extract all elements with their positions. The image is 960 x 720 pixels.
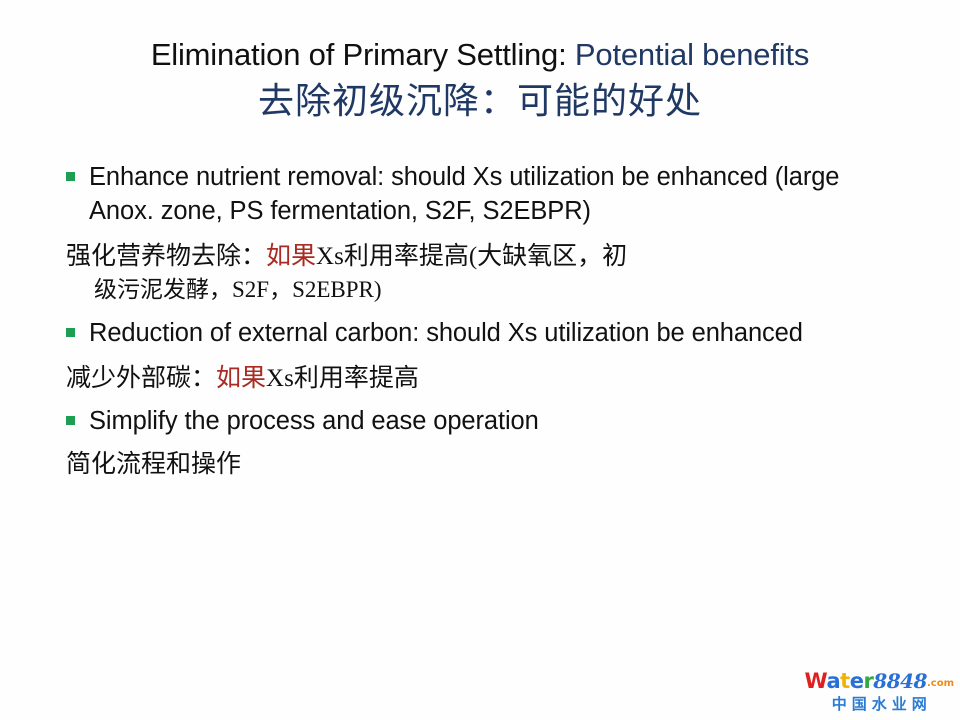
- watermark-chinese: 中国水业网: [805, 697, 954, 712]
- slide-title-block: Elimination of Primary Settling: Potenti…: [0, 36, 960, 124]
- chinese-translation-1: 强化营养物去除：如果Xs利用率提高(大缺氧区，初级污泥发酵，S2F，S2EBPR…: [66, 240, 896, 306]
- bullet-item-3: Simplify the process and ease operation: [66, 404, 896, 438]
- bullet-text-3: Simplify the process and ease operation: [89, 404, 896, 438]
- square-bullet-icon: [66, 328, 75, 337]
- bullet-text-2: Reduction of external carbon: should Xs …: [89, 316, 896, 350]
- watermark-wordmark: Water8848.com: [805, 671, 954, 692]
- slide-body: Enhance nutrient removal: should Xs util…: [66, 160, 896, 488]
- slide-canvas: Elimination of Primary Settling: Potenti…: [0, 0, 960, 720]
- watermark-letter-a: a: [826, 669, 840, 693]
- watermark-letter-r: r: [863, 669, 873, 693]
- watermark-logo: Water8848.com 中国水业网: [805, 671, 954, 712]
- chinese-1-highlight: 如果: [266, 243, 316, 270]
- title-english-black: Elimination of Primary Settling:: [151, 37, 567, 72]
- chinese-2-prefix: 减少外部碳：: [66, 365, 216, 392]
- title-english: Elimination of Primary Settling: Potenti…: [0, 36, 960, 74]
- bullet-item-2: Reduction of external carbon: should Xs …: [66, 316, 896, 350]
- chinese-translation-3: 简化流程和操作: [66, 448, 896, 482]
- chinese-2-highlight: 如果: [216, 365, 266, 392]
- watermark-letter-w: W: [805, 669, 827, 693]
- watermark-letter-e: e: [850, 669, 864, 693]
- bullet-item-1: Enhance nutrient removal: should Xs util…: [66, 160, 896, 228]
- watermark-number: 8848: [873, 669, 927, 693]
- chinese-1-suffix: Xs利用率提高(大缺氧区，初: [316, 243, 627, 270]
- square-bullet-icon: [66, 416, 75, 425]
- chinese-1-prefix: 强化营养物去除：: [66, 243, 266, 270]
- watermark-letter-t: t: [840, 669, 850, 693]
- chinese-translation-2: 减少外部碳：如果Xs利用率提高: [66, 362, 896, 396]
- watermark-tld: .com: [927, 678, 954, 689]
- bullet-text-1: Enhance nutrient removal: should Xs util…: [89, 160, 896, 228]
- chinese-2-suffix: Xs利用率提高: [266, 365, 419, 392]
- title-chinese: 去除初级沉降：可能的好处: [0, 78, 960, 124]
- square-bullet-icon: [66, 172, 75, 181]
- title-english-blue: Potential benefits: [567, 37, 810, 72]
- chinese-1-continuation: 级污泥发酵，S2F，S2EBPR): [66, 274, 896, 306]
